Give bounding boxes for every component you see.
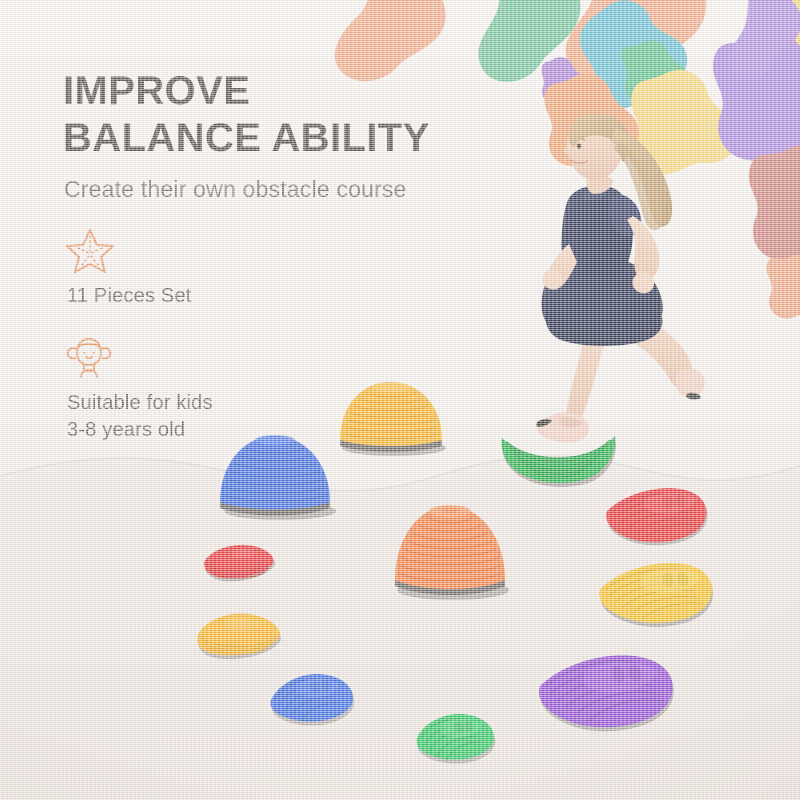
stone-orange-tall xyxy=(385,500,515,602)
stone-yellow-bottom xyxy=(194,612,286,666)
feature-list: 11 Pieces Set xyxy=(64,225,213,456)
stone-red-small xyxy=(201,543,279,585)
stone-yellow-flat xyxy=(596,563,722,631)
stone-purple-bottom xyxy=(536,655,684,737)
product-banner: IMPROVE BALANCE ABILITY Create their own… xyxy=(0,0,800,800)
stone-yellow-tall xyxy=(332,378,452,458)
stone-red-flat xyxy=(604,487,714,549)
feature-label-age: Suitable for kids 3-8 years old xyxy=(67,390,213,444)
stone-blue-tall xyxy=(212,432,342,522)
feature-item-age: Suitable for kids 3-8 years old xyxy=(64,332,213,444)
starfish-icon xyxy=(64,225,213,277)
peach-star-sm xyxy=(766,255,800,319)
headline-line-2: BALANCE ABILITY xyxy=(63,115,430,162)
subtitle: Create their own obstacle course xyxy=(64,176,430,203)
feature-item-pieces: 11 Pieces Set xyxy=(64,225,213,310)
stone-blue-bottom xyxy=(268,674,360,730)
running-girl-photo xyxy=(495,112,745,462)
headline-line-1: IMPROVE xyxy=(63,68,430,115)
stone-green-bottom xyxy=(413,714,501,768)
rose-star xyxy=(749,145,800,261)
headline-block: IMPROVE BALANCE ABILITY Create their own… xyxy=(63,68,430,203)
stone-green-flat xyxy=(497,428,622,490)
girl-face-icon xyxy=(64,332,213,384)
feature-label-pieces: 11 Pieces Set xyxy=(67,283,213,310)
